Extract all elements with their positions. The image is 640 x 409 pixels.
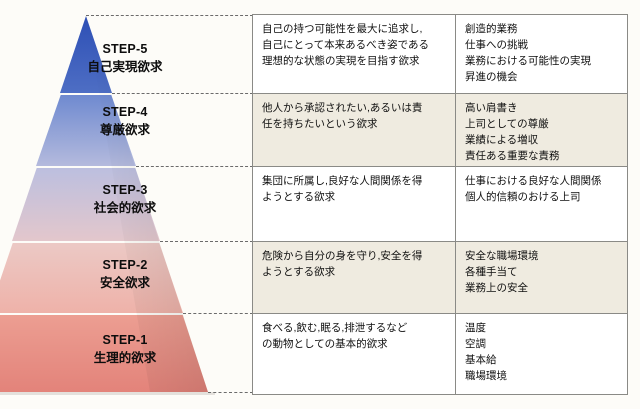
table-row-step-5: 自己の持つ可能性を最大に追求し, 自己にとって本来あるべき姿である 理想的な状態…	[253, 15, 627, 94]
example-line: 創造的業務	[465, 22, 619, 38]
example-line: 仕事における良好な人間関係	[465, 174, 619, 190]
table-row-step-4: 他人から承認されたい,あるいは責 任を持ちたいという欲求 高い肩書き 上司として…	[253, 94, 627, 167]
examples-cell-step-1: 温度 空調 基本給 職場環境	[456, 314, 627, 394]
example-line: 職場環境	[465, 369, 619, 385]
description-line: 任を持ちたいという欲求	[262, 117, 447, 133]
description-line: 自己にとって本来あるべき姿である	[262, 38, 447, 54]
description-cell-step-1: 食べる,飲む,眠る,排泄するなど の動物としての基本的欲求	[253, 314, 456, 394]
examples-cell-step-4: 高い肩書き 上司としての尊厳 業績による増収 責任ある重要な責務	[456, 94, 627, 166]
description-line: 危険から自分の身を守り,安全を得	[262, 249, 447, 265]
description-line: 集団に所属し,良好な人間関係を得	[262, 174, 447, 190]
example-line: 昇進の機会	[465, 70, 619, 86]
description-line: ようとする欲求	[262, 265, 447, 281]
example-line: 基本給	[465, 353, 619, 369]
example-line: 各種手当て	[465, 265, 619, 281]
needs-table: 自己の持つ可能性を最大に追求し, 自己にとって本来あるべき姿である 理想的な状態…	[252, 14, 628, 395]
example-line: 業務上の安全	[465, 281, 619, 297]
table-row-step-3: 集団に所属し,良好な人間関係を得 ようとする欲求 仕事における良好な人間関係 個…	[253, 167, 627, 242]
example-line: 空調	[465, 337, 619, 353]
connector-line-step2-step1	[183, 313, 253, 314]
description-line: ようとする欲求	[262, 190, 447, 206]
description-line: 理想的な状態の実現を目指す欲求	[262, 54, 447, 70]
description-cell-step-3: 集団に所属し,良好な人間関係を得 ようとする欲求	[253, 167, 456, 241]
pyramid-base-shadow	[0, 392, 215, 395]
examples-cell-step-2: 安全な職場環境 各種手当て 業務上の安全	[456, 242, 627, 313]
table-row-step-1: 食べる,飲む,眠る,排泄するなど の動物としての基本的欲求 温度 空調 基本給 …	[253, 314, 627, 394]
description-cell-step-5: 自己の持つ可能性を最大に追求し, 自己にとって本来あるべき姿である 理想的な状態…	[253, 15, 456, 93]
examples-cell-step-3: 仕事における良好な人間関係 個人的信頼のおける上司	[456, 167, 627, 241]
pyramid-graphic: STEP-5 自己実現欲求 STEP-4 尊厳欲求 STEP-3 社会的欲求 S…	[0, 0, 250, 409]
table-row-step-2: 危険から自分の身を守り,安全を得 ようとする欲求 安全な職場環境 各種手当て 業…	[253, 242, 627, 314]
connector-line-step5-step4	[112, 93, 253, 94]
connector-line-step3-step2	[160, 241, 253, 242]
example-line: 業務における可能性の実現	[465, 54, 619, 70]
description-line: 自己の持つ可能性を最大に追求し,	[262, 22, 447, 38]
example-line: 安全な職場環境	[465, 249, 619, 265]
description-line: の動物としての基本的欲求	[262, 337, 447, 353]
pyramid-svg	[0, 0, 250, 409]
example-line: 仕事への挑戦	[465, 38, 619, 54]
examples-cell-step-5: 創造的業務 仕事への挑戦 業務における可能性の実現 昇進の機会	[456, 15, 627, 93]
maslow-hierarchy-diagram: STEP-5 自己実現欲求 STEP-4 尊厳欲求 STEP-3 社会的欲求 S…	[0, 0, 640, 409]
connector-line-top	[86, 15, 253, 16]
example-line: 温度	[465, 321, 619, 337]
example-line: 責任ある重要な責務	[465, 149, 619, 165]
description-line: 食べる,飲む,眠る,排泄するなど	[262, 321, 447, 337]
example-line: 高い肩書き	[465, 101, 619, 117]
description-cell-step-2: 危険から自分の身を守り,安全を得 ようとする欲求	[253, 242, 456, 313]
connector-line-step4-step3	[136, 166, 253, 167]
connector-line-bottom	[208, 392, 253, 393]
description-line: 他人から承認されたい,あるいは責	[262, 101, 447, 117]
example-line: 業績による増収	[465, 133, 619, 149]
example-line: 個人的信頼のおける上司	[465, 190, 619, 206]
example-line: 上司としての尊厳	[465, 117, 619, 133]
description-cell-step-4: 他人から承認されたい,あるいは責 任を持ちたいという欲求	[253, 94, 456, 166]
